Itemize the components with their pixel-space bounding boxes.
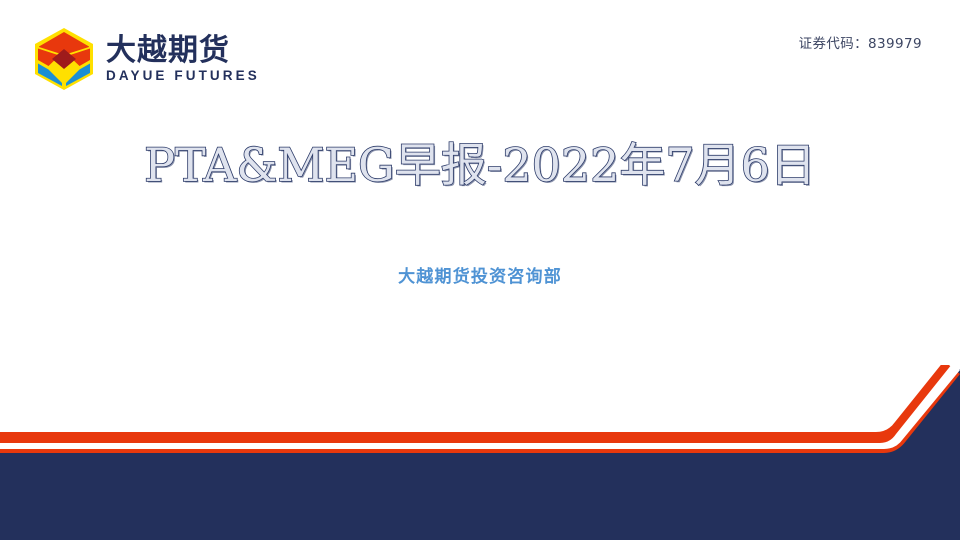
page-title: PTA&MEG早报-2022年7月6日 — [0, 137, 960, 195]
dayue-hexagon-logo-icon — [33, 27, 95, 91]
brand-wordmark: 大越期货 DAYUE FUTURES — [106, 36, 260, 84]
footer-orange-stripe — [0, 365, 960, 453]
page-subtitle: 大越期货投资咨询部 — [0, 262, 960, 287]
brand-logo[interactable]: 大越期货 DAYUE FUTURES — [33, 27, 260, 91]
slide-canvas: 大越期货 DAYUE FUTURES 证券代码：839979 PTA&MEG早报… — [0, 0, 960, 540]
footer-navy-shape — [0, 369, 960, 540]
brand-name-cn: 大越期货 — [106, 36, 260, 67]
securities-code: 证券代码：839979 — [799, 32, 922, 52]
footer-decorative-band — [0, 365, 960, 540]
brand-name-en: DAYUE FUTURES — [106, 69, 260, 84]
